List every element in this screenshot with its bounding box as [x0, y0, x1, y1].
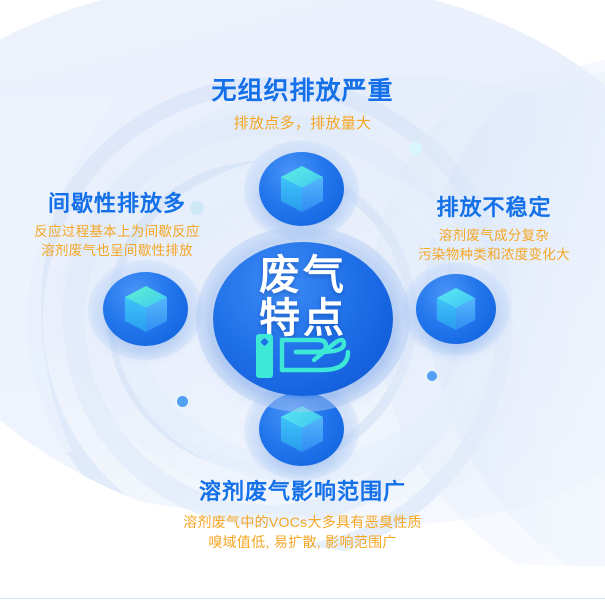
decorative-dot-blue-right: [427, 371, 437, 381]
cube-icon: [279, 164, 325, 214]
feature-block-bottom: 溶剂废气影响范围广 溶剂废气中的VOCs大多具有恶臭性质 嗅域值低, 易扩散, …: [0, 478, 605, 552]
decorative-dot-blue-left: [177, 396, 188, 407]
bottom-divider: [0, 598, 605, 599]
cube-icon: [435, 286, 477, 332]
feature-subtitle-left: 反应过程基本上为间歇反应 溶剂废气也呈间歇性排放: [12, 222, 222, 260]
center-hub-title-line1: 废气: [259, 252, 347, 298]
cube-icon: [123, 284, 169, 334]
feature-node-right[interactable]: [416, 274, 496, 344]
feature-node-left[interactable]: [103, 272, 188, 346]
feature-node-top[interactable]: [259, 152, 344, 226]
feature-title-right: 排放不稳定: [388, 194, 600, 221]
feature-subtitle-bottom: 溶剂废气中的VOCs大多具有恶臭性质 嗅域值低, 易扩散, 影响范围广: [0, 512, 605, 552]
feature-subtitle-top-line1: 排放点多，排放量大: [0, 113, 605, 135]
feature-block-top: 无组织排放严重 排放点多，排放量大: [0, 76, 605, 135]
feature-subtitle-bottom-line2: 嗅域值低, 易扩散, 影响范围广: [0, 532, 605, 552]
decorative-dot-cyan: [409, 142, 422, 155]
feature-block-left: 间歇性排放多 反应过程基本上为间歇反应 溶剂废气也呈间歇性排放: [12, 190, 222, 260]
wastegas-characteristics-infographic: 无组织排放严重 排放点多，排放量大 间歇性排放多 反应过程基本上为间歇反应 溶剂…: [0, 0, 605, 605]
feature-subtitle-right: 溶剂废气成分复杂 污染物种类和浓度变化大: [388, 226, 600, 264]
feature-title-top: 无组织排放严重: [0, 76, 605, 106]
feature-block-right: 排放不稳定 溶剂废气成分复杂 污染物种类和浓度变化大: [388, 194, 600, 264]
feature-subtitle-left-line2: 溶剂废气也呈间歇性排放: [12, 241, 222, 260]
feature-title-left: 间歇性排放多: [12, 190, 222, 217]
feature-subtitle-top: 排放点多，排放量大: [0, 113, 605, 135]
center-hub[interactable]: 废气 特点: [196, 226, 410, 412]
feature-subtitle-left-line1: 反应过程基本上为间歇反应: [12, 222, 222, 241]
feature-subtitle-right-line2: 污染物种类和浓度变化大: [388, 245, 600, 264]
hand-presenting-icon: [252, 326, 356, 384]
feature-subtitle-bottom-line1: 溶剂废气中的VOCs大多具有恶臭性质: [0, 512, 605, 532]
feature-title-bottom: 溶剂废气影响范围广: [0, 478, 605, 506]
feature-subtitle-right-line1: 溶剂废气成分复杂: [388, 226, 600, 245]
